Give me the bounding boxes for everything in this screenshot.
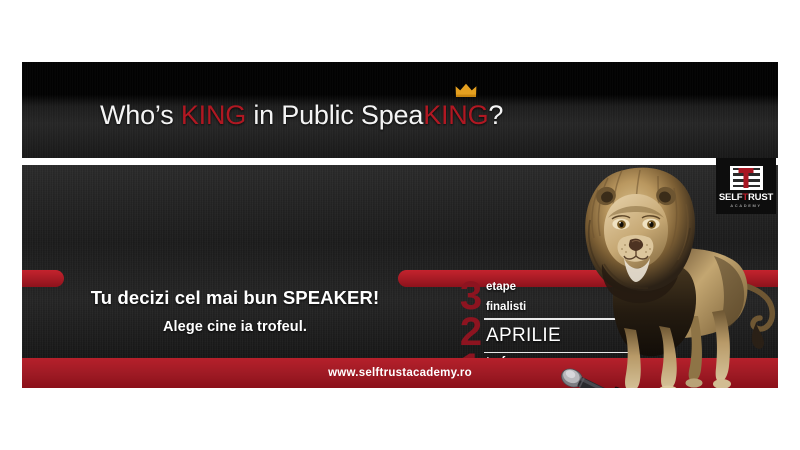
agenda-block: 3 2 1 etape finalisti APRILIE bbox=[454, 278, 644, 358]
header-panel: Who’s KING in Public SpeaKING? bbox=[22, 62, 778, 158]
page-title: Who’s KING in Public SpeaKING? bbox=[100, 100, 503, 131]
crown-icon bbox=[455, 83, 477, 98]
headline-suffix: ? bbox=[488, 100, 503, 130]
logo-subtitle: ACADEMY bbox=[730, 203, 761, 209]
headline-king-second-text: KING bbox=[423, 100, 488, 130]
agenda-numeral-2: 2 bbox=[454, 314, 488, 350]
logo-t-mark bbox=[739, 168, 754, 188]
slogan-block: Tu decizi cel mai bun SPEAKER! Alege cin… bbox=[70, 287, 400, 335]
agenda-numerals: 3 2 1 bbox=[454, 278, 488, 358]
body-panel: Tu decizi cel mai bun SPEAKER! Alege cin… bbox=[22, 165, 778, 358]
slogan-main-text: Tu decizi cel mai bun SPEAKER! bbox=[70, 287, 400, 309]
agenda-row-etape-line2: finalisti bbox=[484, 298, 644, 318]
website-url-bar[interactable]: www.selftrustacademy.ro bbox=[22, 358, 778, 388]
agenda-rows: etape finalisti APRILIE trofeu speech bbox=[484, 278, 644, 358]
logo-word-left: SELF bbox=[719, 192, 742, 203]
headline-king-first: KING bbox=[181, 100, 246, 130]
headline-king-second: KING bbox=[423, 100, 488, 130]
left-red-accent-bar bbox=[22, 270, 64, 287]
logo-wordmark: SELFTRUST bbox=[719, 193, 773, 203]
agenda-numeral-3: 3 bbox=[454, 278, 488, 314]
headline-prefix: Who’s bbox=[100, 100, 181, 130]
website-url-text: www.selftrustacademy.ro bbox=[328, 367, 472, 379]
agenda-row-etape-line1: etape bbox=[484, 278, 644, 298]
agenda-row-aprilie-line1: APRILIE bbox=[484, 320, 644, 352]
selftrust-logo-icon bbox=[730, 166, 763, 190]
header-divider bbox=[22, 158, 778, 165]
promo-banner: Who’s KING in Public SpeaKING? Tu decizi… bbox=[22, 62, 778, 388]
headline-middle: in Public Spea bbox=[246, 100, 423, 130]
logo-word-right: RUST bbox=[748, 192, 773, 203]
agenda-numeral-1: 1 bbox=[454, 350, 488, 358]
selftrust-logo[interactable]: SELFTRUST ACADEMY bbox=[716, 158, 776, 214]
agenda-row-aprilie: APRILIE bbox=[484, 320, 644, 354]
agenda-row-etape: etape finalisti bbox=[484, 278, 644, 320]
banner-canvas: Who’s KING in Public SpeaKING? Tu decizi… bbox=[0, 0, 800, 450]
logo-t-stem bbox=[743, 173, 749, 188]
slogan-sub-text: Alege cine ia trofeul. bbox=[70, 319, 400, 335]
